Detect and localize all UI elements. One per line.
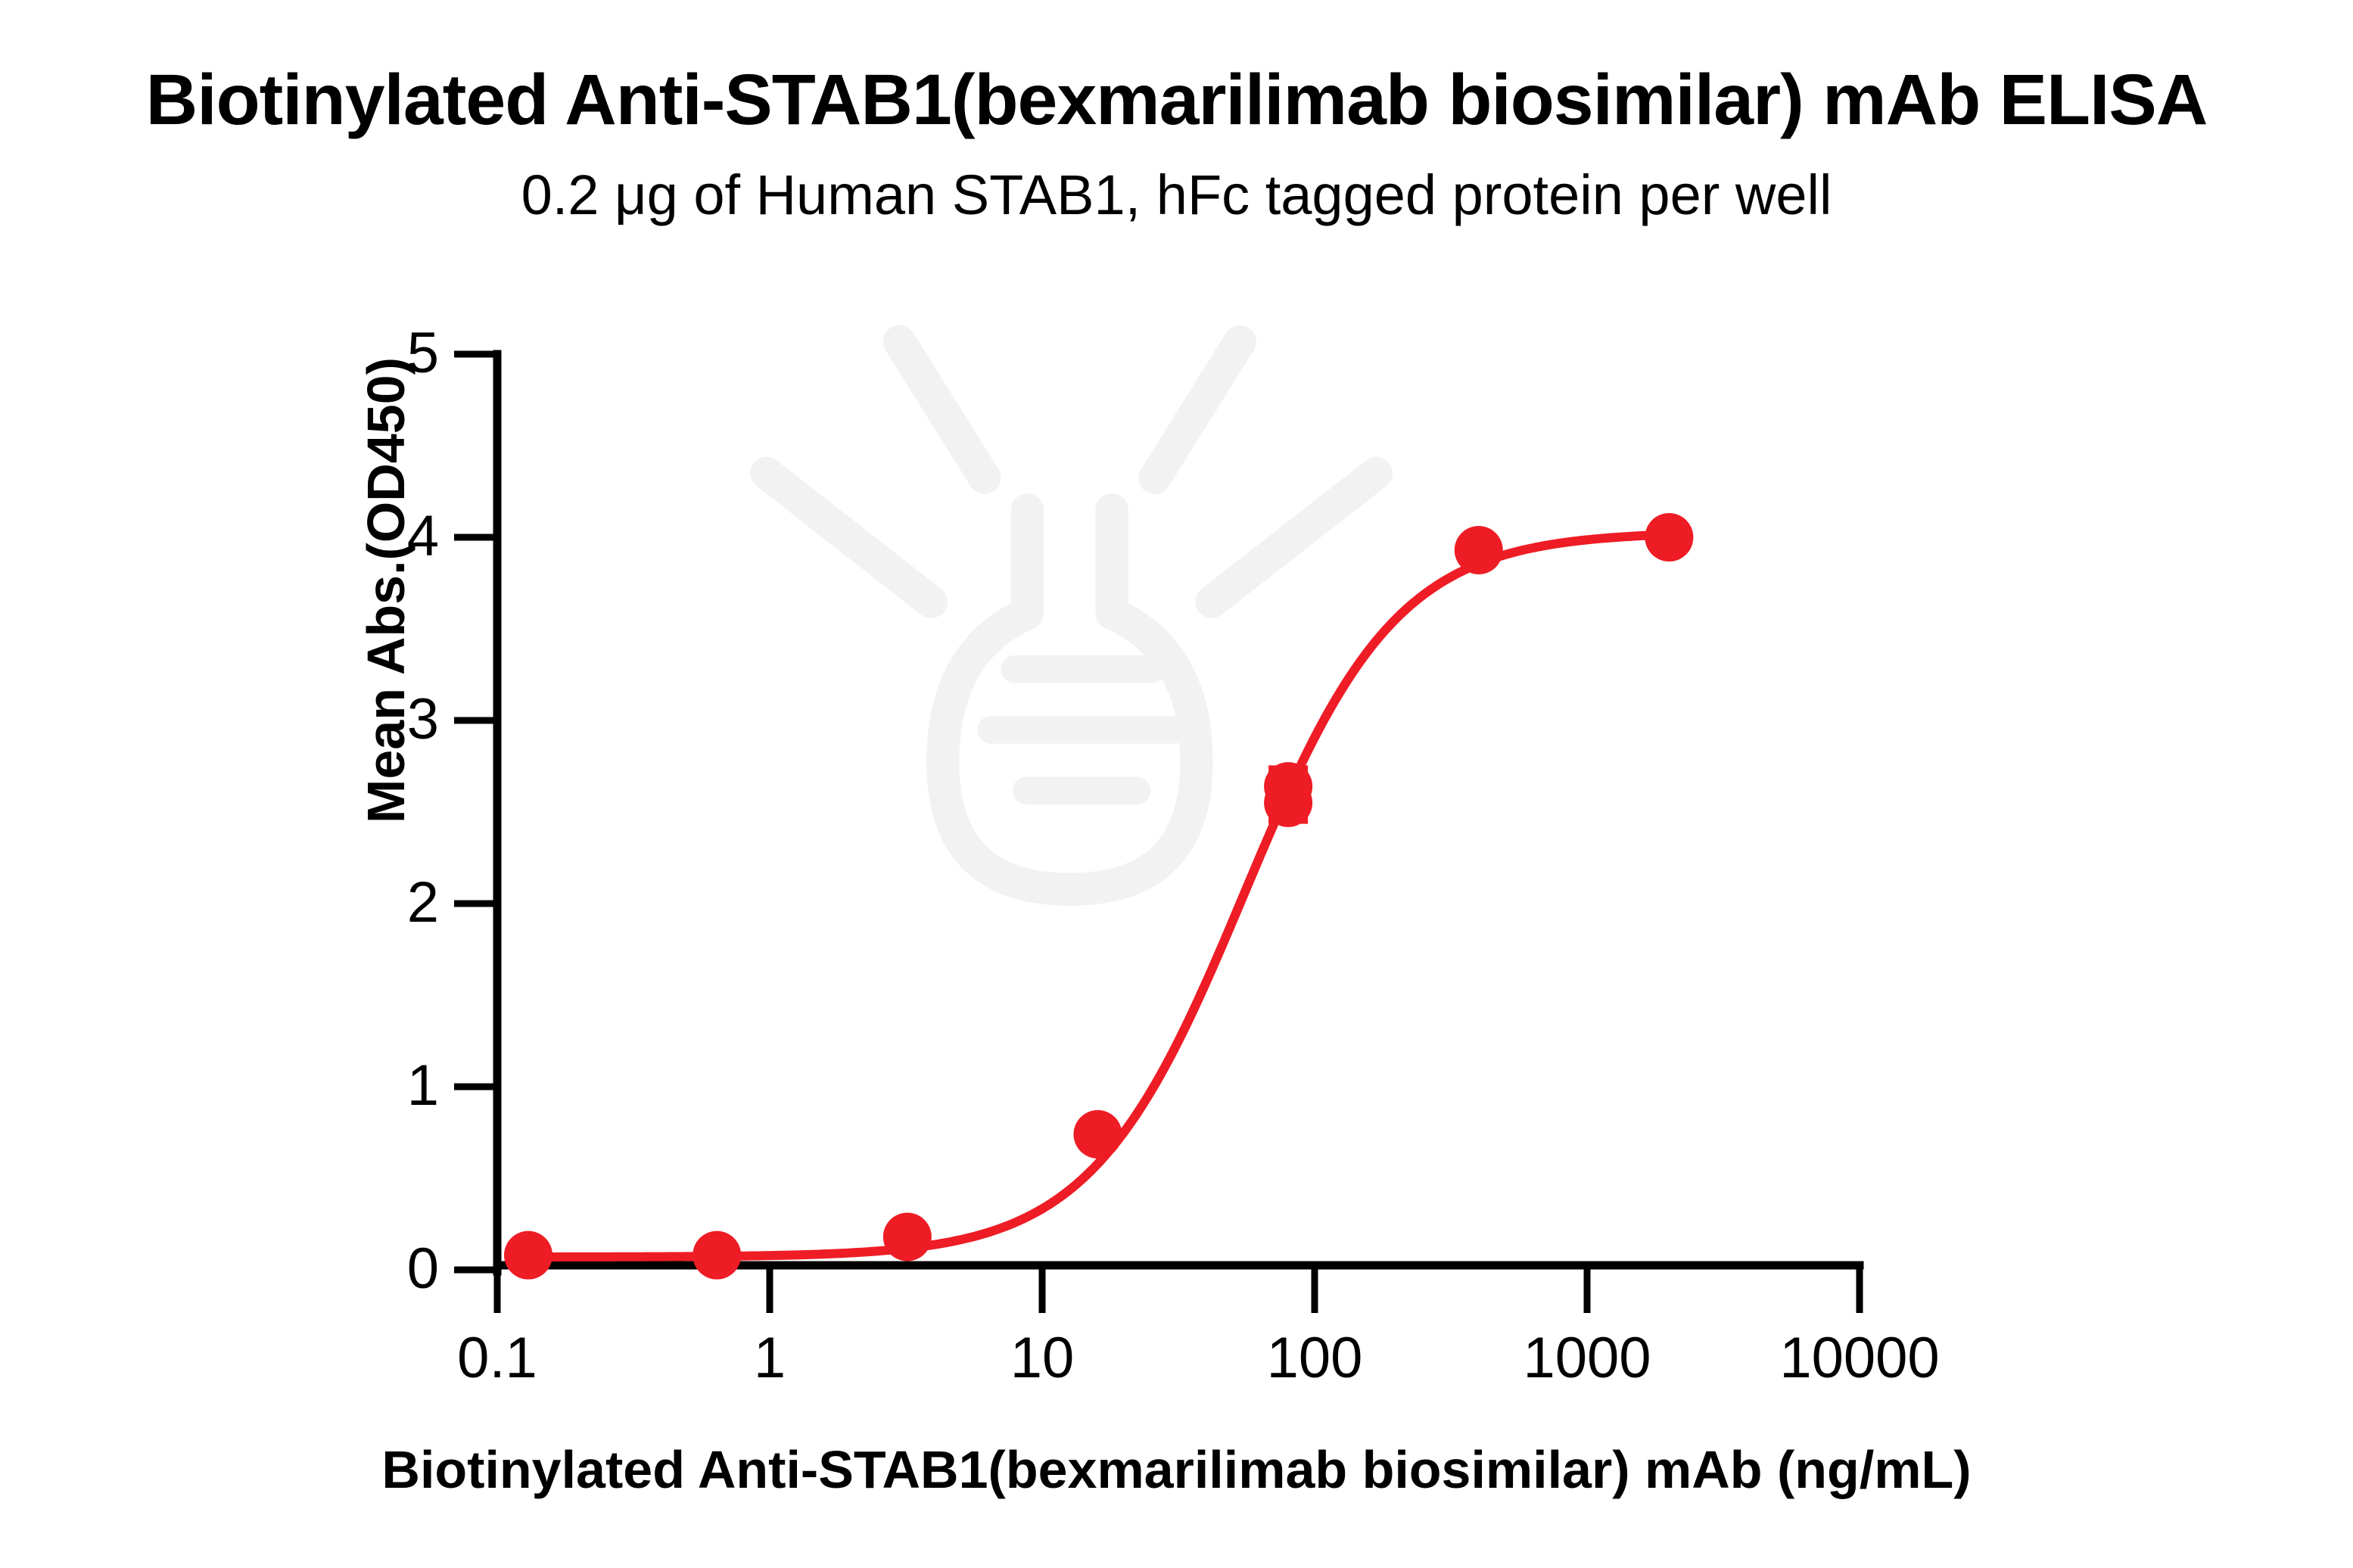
y-axis-ticks xyxy=(454,354,497,1270)
data-point-marker xyxy=(1264,762,1312,810)
data-point-marker xyxy=(1073,1110,1122,1159)
plot-canvas: 5 4 3 2 1 0 0.1 1 10 100 1000 10000 xyxy=(0,0,2353,1568)
elisa-figure: Biotinylated Anti-STAB1(bexmarilimab bio… xyxy=(0,0,2353,1568)
x-tick-label: 10 xyxy=(1010,1326,1075,1390)
x-tick-label: 100 xyxy=(1267,1326,1363,1390)
x-axis-tick-labels: 0.1 1 10 100 1000 10000 xyxy=(457,1326,1940,1390)
data-point-marker xyxy=(693,1231,741,1280)
x-tick-label: 0.1 xyxy=(457,1326,537,1390)
y-tick-label: 0 xyxy=(407,1237,439,1301)
x-tick-label: 1 xyxy=(754,1326,786,1390)
x-tick-label: 1000 xyxy=(1523,1326,1651,1390)
data-point-marker xyxy=(1645,513,1693,562)
y-axis-title: Mean Abs.(OD450) xyxy=(356,98,416,1082)
x-axis-title: Biotinylated Anti-STAB1(bexmarilimab bio… xyxy=(0,1439,2353,1500)
data-point-marker xyxy=(1455,526,1503,574)
data-point-marker xyxy=(883,1212,932,1261)
data-point-marker xyxy=(504,1231,552,1280)
x-tick-label: 10000 xyxy=(1779,1326,1939,1390)
